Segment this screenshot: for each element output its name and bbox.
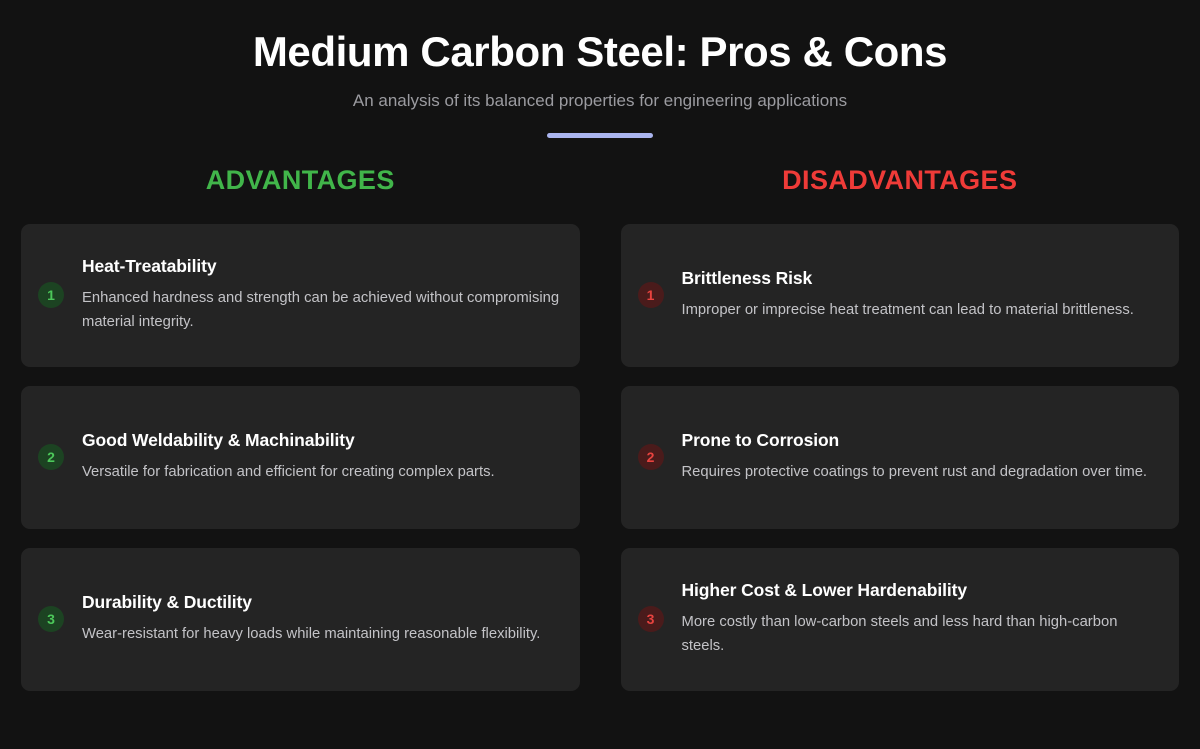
card-title: Good Weldability & Machinability bbox=[82, 430, 560, 452]
advantage-card[interactable]: 3 Durability & Ductility Wear-resistant … bbox=[21, 548, 580, 691]
infographic-page: Medium Carbon Steel: Pros & Cons An anal… bbox=[0, 0, 1200, 749]
number-badge-icon: 1 bbox=[638, 282, 664, 308]
number-badge-icon: 2 bbox=[38, 444, 64, 470]
card-body: Good Weldability & Machinability Versati… bbox=[82, 430, 560, 485]
column-heading-disadvantages: DISADVANTAGES bbox=[621, 164, 1180, 196]
page-subtitle: An analysis of its balanced properties f… bbox=[0, 90, 1200, 112]
disadvantage-card[interactable]: 1 Brittleness Risk Improper or imprecise… bbox=[621, 224, 1180, 367]
card-title: Durability & Ductility bbox=[82, 592, 560, 614]
advantages-card-list: 1 Heat-Treatability Enhanced hardness an… bbox=[21, 224, 580, 691]
card-description: More costly than low-carbon steels and l… bbox=[682, 611, 1160, 659]
disadvantage-card[interactable]: 3 Higher Cost & Lower Hardenability More… bbox=[621, 548, 1180, 691]
number-badge-icon: 2 bbox=[638, 444, 664, 470]
column-heading-advantages: ADVANTAGES bbox=[21, 164, 580, 196]
number-badge-icon: 3 bbox=[638, 606, 664, 632]
card-body: Brittleness Risk Improper or imprecise h… bbox=[682, 268, 1160, 323]
card-body: Durability & Ductility Wear-resistant fo… bbox=[82, 592, 560, 647]
card-body: Prone to Corrosion Requires protective c… bbox=[682, 430, 1160, 485]
advantage-card[interactable]: 1 Heat-Treatability Enhanced hardness an… bbox=[21, 224, 580, 367]
card-title: Heat-Treatability bbox=[82, 256, 560, 278]
advantage-card[interactable]: 2 Good Weldability & Machinability Versa… bbox=[21, 386, 580, 529]
number-badge-icon: 3 bbox=[38, 606, 64, 632]
column-advantages: ADVANTAGES 1 Heat-Treatability Enhanced … bbox=[21, 138, 580, 690]
page-title: Medium Carbon Steel: Pros & Cons bbox=[0, 26, 1200, 77]
disadvantage-card[interactable]: 2 Prone to Corrosion Requires protective… bbox=[621, 386, 1180, 529]
disadvantages-card-list: 1 Brittleness Risk Improper or imprecise… bbox=[621, 224, 1180, 691]
card-title: Brittleness Risk bbox=[682, 268, 1160, 290]
card-description: Improper or imprecise heat treatment can… bbox=[682, 299, 1160, 323]
card-description: Wear-resistant for heavy loads while mai… bbox=[82, 623, 560, 647]
card-title: Prone to Corrosion bbox=[682, 430, 1160, 452]
card-body: Higher Cost & Lower Hardenability More c… bbox=[682, 580, 1160, 659]
column-disadvantages: DISADVANTAGES 1 Brittleness Risk Imprope… bbox=[621, 138, 1180, 690]
header: Medium Carbon Steel: Pros & Cons An anal… bbox=[0, 0, 1200, 138]
comparison-columns: ADVANTAGES 1 Heat-Treatability Enhanced … bbox=[0, 138, 1200, 749]
card-description: Enhanced hardness and strength can be ac… bbox=[82, 287, 560, 335]
number-badge-icon: 1 bbox=[38, 282, 64, 308]
card-description: Requires protective coatings to prevent … bbox=[682, 461, 1160, 485]
card-title: Higher Cost & Lower Hardenability bbox=[682, 580, 1160, 602]
card-description: Versatile for fabrication and efficient … bbox=[82, 461, 560, 485]
card-body: Heat-Treatability Enhanced hardness and … bbox=[82, 256, 560, 335]
